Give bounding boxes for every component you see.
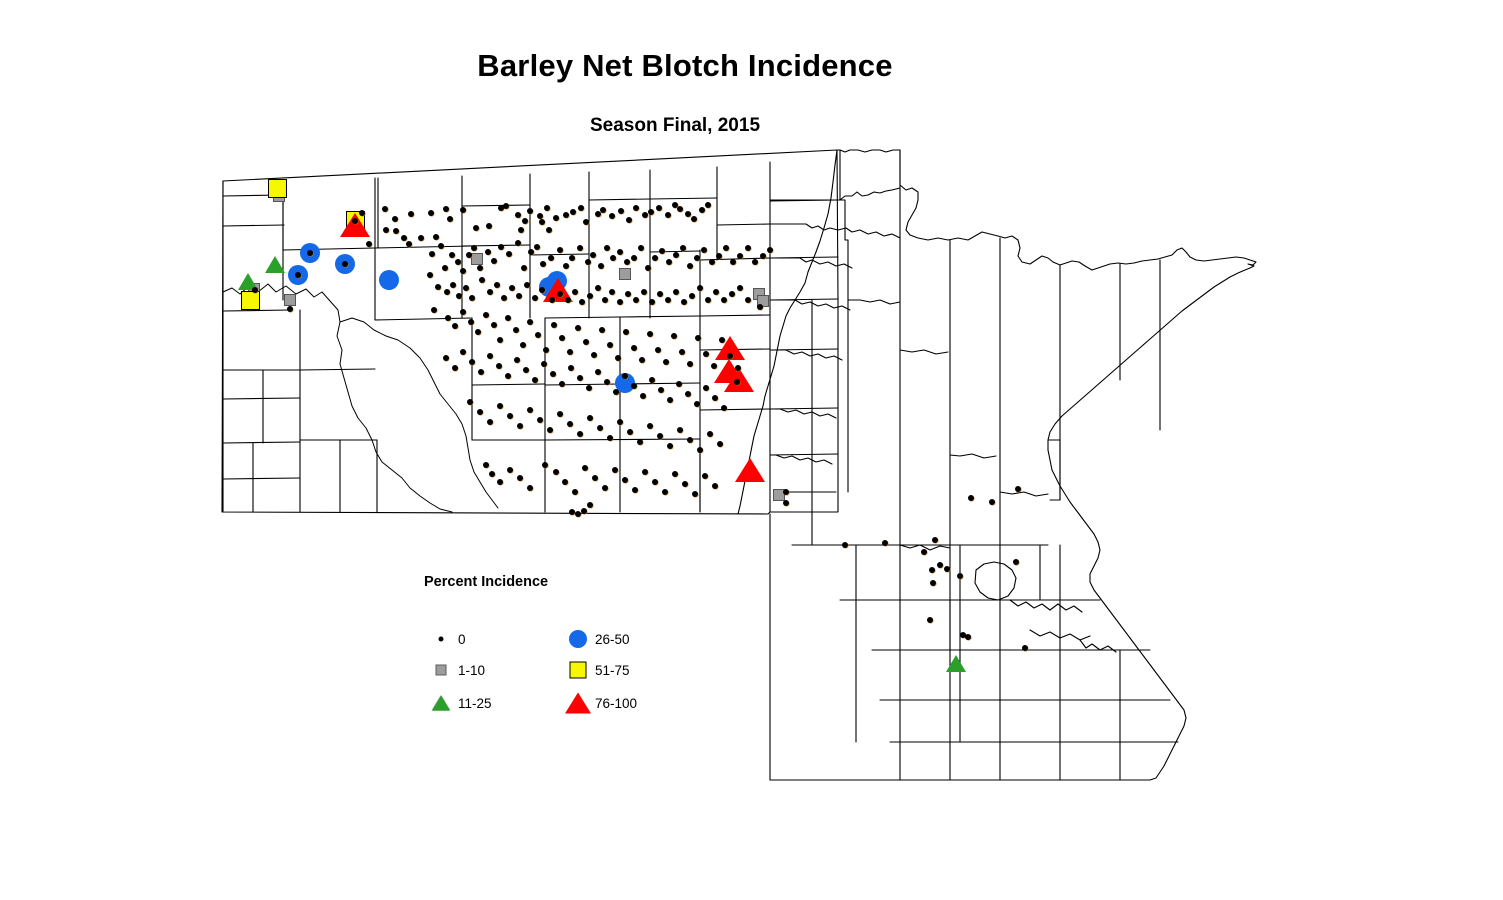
map-marker-zero bbox=[460, 268, 466, 274]
map-marker-1-10 bbox=[619, 268, 631, 280]
map-marker-zero bbox=[447, 216, 453, 222]
map-marker-zero bbox=[456, 293, 462, 299]
blue-circle-icon bbox=[561, 626, 595, 652]
map-marker-zero bbox=[703, 385, 709, 391]
map-marker-zero bbox=[666, 259, 672, 265]
map-marker-zero bbox=[697, 447, 703, 453]
map-marker-zero bbox=[745, 245, 751, 251]
legend-label-76-100: 76-100 bbox=[595, 696, 637, 711]
map-marker-zero bbox=[921, 549, 927, 555]
map-marker-zero bbox=[563, 212, 569, 218]
map-marker-zero bbox=[455, 259, 461, 265]
map-marker-zero bbox=[649, 377, 655, 383]
map-marker-zero bbox=[647, 423, 653, 429]
map-marker-zero bbox=[583, 339, 589, 345]
map-marker-zero bbox=[477, 265, 483, 271]
map-marker-zero bbox=[709, 259, 715, 265]
map-marker-zero bbox=[572, 289, 578, 295]
map-marker-zero bbox=[712, 395, 718, 401]
map-marker-zero bbox=[631, 255, 637, 261]
map-marker-zero bbox=[515, 240, 521, 246]
map-marker-zero bbox=[548, 255, 554, 261]
map-marker-zero bbox=[567, 421, 573, 427]
map-marker-zero bbox=[445, 315, 451, 321]
map-marker-zero bbox=[401, 235, 407, 241]
map-marker-zero bbox=[486, 223, 492, 229]
map-marker-0 bbox=[757, 304, 763, 310]
map-marker-1-10 bbox=[471, 253, 483, 265]
map-marker-zero bbox=[587, 293, 593, 299]
map-marker-zero bbox=[695, 335, 701, 341]
map-marker-zero bbox=[393, 228, 399, 234]
map-marker-zero bbox=[494, 282, 500, 288]
map-marker-zero bbox=[965, 634, 971, 640]
map-marker-zero bbox=[615, 355, 621, 361]
map-marker-zero bbox=[658, 387, 664, 393]
map-marker-zero bbox=[685, 391, 691, 397]
legend-title: Percent Incidence bbox=[424, 574, 664, 590]
gray-square-icon bbox=[424, 657, 458, 683]
legend-item-0: 0 bbox=[424, 626, 466, 652]
map-marker-zero bbox=[944, 566, 950, 572]
map-marker-zero bbox=[520, 342, 526, 348]
map-marker-zero bbox=[471, 245, 477, 251]
map-marker-zero bbox=[602, 485, 608, 491]
map-marker-0 bbox=[287, 306, 293, 312]
map-marker-zero bbox=[427, 272, 433, 278]
map-marker-zero bbox=[609, 213, 615, 219]
map-marker-zero bbox=[599, 327, 605, 333]
map-marker-zero bbox=[383, 227, 389, 233]
map-marker-zero bbox=[408, 211, 414, 217]
map-marker-zero bbox=[577, 431, 583, 437]
map-marker-zero bbox=[677, 427, 683, 433]
legend-label-0: 0 bbox=[458, 632, 466, 647]
map-marker-zero bbox=[957, 573, 963, 579]
map-marker-zero bbox=[406, 241, 412, 247]
map-marker-zero bbox=[705, 202, 711, 208]
map-marker-zero bbox=[927, 617, 933, 623]
map-marker-zero bbox=[557, 291, 563, 297]
map-marker-zero bbox=[642, 469, 648, 475]
map-marker-zero bbox=[659, 248, 665, 254]
map-marker-zero bbox=[579, 299, 585, 305]
map-marker-zero bbox=[691, 216, 697, 222]
map-marker-zero bbox=[679, 349, 685, 355]
map-marker-zero bbox=[442, 265, 448, 271]
map-marker-51-75 bbox=[241, 291, 260, 310]
map-marker-zero bbox=[438, 243, 444, 249]
map-marker-zero bbox=[487, 419, 493, 425]
map-marker-zero bbox=[544, 205, 550, 211]
map-marker-zero bbox=[528, 249, 534, 255]
map-marker-zero bbox=[585, 259, 591, 265]
map-marker-zero bbox=[1015, 486, 1021, 492]
map-marker-zero bbox=[604, 245, 610, 251]
map-marker-zero bbox=[989, 499, 995, 505]
map-marker-zero bbox=[610, 255, 616, 261]
map-marker-zero bbox=[737, 285, 743, 291]
map-marker-zero bbox=[557, 247, 563, 253]
map-marker-zero bbox=[592, 475, 598, 481]
map-marker-zero bbox=[640, 393, 646, 399]
map-marker-zero bbox=[737, 253, 743, 259]
map-marker-zero bbox=[676, 381, 682, 387]
map-marker-zero bbox=[431, 307, 437, 313]
map-marker-zero bbox=[553, 215, 559, 221]
map-marker-zero bbox=[712, 483, 718, 489]
map-marker-zero bbox=[604, 379, 610, 385]
map-marker-zero bbox=[428, 210, 434, 216]
map-marker-zero bbox=[581, 508, 587, 514]
map-marker-0 bbox=[352, 218, 358, 224]
map-marker-zero bbox=[507, 467, 513, 473]
map-marker-zero bbox=[602, 297, 608, 303]
green-triangle-icon bbox=[424, 690, 458, 716]
map-marker-zero bbox=[553, 469, 559, 475]
map-marker-zero bbox=[624, 259, 630, 265]
map-marker-zero bbox=[541, 361, 547, 367]
map-marker-zero bbox=[498, 244, 504, 250]
map-marker-zero bbox=[767, 247, 773, 253]
map-marker-zero bbox=[663, 359, 669, 365]
map-marker-zero bbox=[485, 249, 491, 255]
map-marker-zero bbox=[730, 259, 736, 265]
map-marker-zero bbox=[505, 373, 511, 379]
map-marker-zero bbox=[735, 365, 741, 371]
map-marker-zero bbox=[582, 465, 588, 471]
legend: Percent Incidence 0 1-10 11-25 26-50 51-… bbox=[424, 574, 664, 704]
map-marker-zero bbox=[677, 206, 683, 212]
map-marker-zero bbox=[575, 511, 581, 517]
map-marker-zero bbox=[701, 247, 707, 253]
map-marker-0 bbox=[295, 272, 301, 278]
map-marker-zero bbox=[535, 332, 541, 338]
map-marker-51-75 bbox=[268, 179, 287, 198]
map-marker-zero bbox=[707, 431, 713, 437]
map-marker-zero bbox=[516, 293, 522, 299]
map-marker-zero bbox=[518, 227, 524, 233]
map-marker-zero bbox=[469, 359, 475, 365]
map-marker-zero bbox=[687, 263, 693, 269]
map-marker-zero bbox=[929, 567, 935, 573]
map-marker-zero bbox=[656, 205, 662, 211]
map-marker-zero bbox=[460, 309, 466, 315]
map-marker-zero bbox=[745, 297, 751, 303]
small-black-dot-icon bbox=[424, 626, 458, 652]
map-marker-zero bbox=[760, 253, 766, 259]
map-marker-zero bbox=[524, 282, 530, 288]
map-marker-zero bbox=[633, 205, 639, 211]
map-marker-zero bbox=[716, 253, 722, 259]
map-marker-zero bbox=[783, 489, 789, 495]
map-marker-zero bbox=[680, 245, 686, 251]
map-marker-zero bbox=[721, 405, 727, 411]
map-marker-zero bbox=[539, 219, 545, 225]
map-marker-zero bbox=[569, 255, 575, 261]
map-marker-zero bbox=[595, 285, 601, 291]
map-marker-zero bbox=[882, 540, 888, 546]
map-marker-zero bbox=[649, 299, 655, 305]
map-marker-zero bbox=[702, 473, 708, 479]
map-marker-zero bbox=[600, 207, 606, 213]
legend-item-1-10: 1-10 bbox=[424, 657, 485, 683]
map-marker-zero bbox=[501, 295, 507, 301]
map-marker-zero bbox=[496, 363, 502, 369]
map-marker-zero bbox=[689, 293, 695, 299]
map-marker-zero bbox=[665, 212, 671, 218]
map-marker-zero bbox=[527, 407, 533, 413]
map-figure: Barley Net Blotch Incidence Season Final… bbox=[0, 0, 1503, 900]
map-marker-zero bbox=[473, 225, 479, 231]
legend-label-51-75: 51-75 bbox=[595, 663, 630, 678]
map-marker-zero bbox=[607, 435, 613, 441]
map-marker-0 bbox=[252, 287, 258, 293]
map-marker-zero bbox=[618, 208, 624, 214]
map-marker-zero bbox=[523, 367, 529, 373]
map-marker-zero bbox=[443, 206, 449, 212]
map-marker-zero bbox=[452, 323, 458, 329]
map-marker-zero bbox=[639, 357, 645, 363]
map-marker-zero bbox=[559, 335, 565, 341]
map-marker-zero bbox=[489, 471, 495, 477]
map-marker-zero bbox=[575, 325, 581, 331]
map-marker-zero bbox=[540, 261, 546, 267]
map-marker-11-25 bbox=[265, 256, 285, 273]
map-marker-zero bbox=[623, 329, 629, 335]
map-marker-zero bbox=[497, 479, 503, 485]
map-marker-zero bbox=[483, 312, 489, 318]
map-marker-zero bbox=[549, 297, 555, 303]
map-marker-zero bbox=[1013, 559, 1019, 565]
map-marker-zero bbox=[595, 369, 601, 375]
map-marker-zero bbox=[565, 297, 571, 303]
map-marker-zero bbox=[418, 235, 424, 241]
map-marker-zero bbox=[477, 409, 483, 415]
map-marker-zero bbox=[497, 403, 503, 409]
legend-item-11-25: 11-25 bbox=[424, 690, 492, 716]
map-marker-zero bbox=[673, 252, 679, 258]
map-marker-zero bbox=[537, 417, 543, 423]
map-marker-zero bbox=[655, 347, 661, 353]
map-marker-zero bbox=[681, 299, 687, 305]
legend-label-1-10: 1-10 bbox=[458, 663, 485, 678]
map-marker-zero bbox=[937, 562, 943, 568]
map-marker-zero bbox=[550, 371, 556, 377]
map-marker-zero bbox=[505, 315, 511, 321]
map-marker-zero bbox=[687, 437, 693, 443]
map-marker-zero bbox=[1022, 645, 1028, 651]
map-marker-zero bbox=[617, 299, 623, 305]
map-marker-zero bbox=[527, 485, 533, 491]
map-marker-zero bbox=[435, 284, 441, 290]
map-marker-zero bbox=[662, 489, 668, 495]
map-marker-zero bbox=[665, 297, 671, 303]
map-marker-zero bbox=[667, 397, 673, 403]
map-marker-zero bbox=[692, 491, 698, 497]
map-marker-zero bbox=[491, 258, 497, 264]
legend-label-11-25: 11-25 bbox=[458, 696, 492, 711]
map-marker-zero bbox=[752, 259, 758, 265]
map-marker-zero bbox=[491, 322, 497, 328]
map-marker-zero bbox=[930, 580, 936, 586]
map-marker-zero bbox=[638, 245, 644, 251]
map-marker-zero bbox=[366, 241, 372, 247]
map-marker-zero bbox=[450, 282, 456, 288]
map-marker-zero bbox=[359, 210, 365, 216]
map-marker-zero bbox=[429, 251, 435, 257]
map-marker-zero bbox=[586, 385, 592, 391]
map-marker-zero bbox=[723, 245, 729, 251]
map-marker-zero bbox=[729, 291, 735, 297]
map-marker-zero bbox=[587, 415, 593, 421]
map-marker-zero bbox=[444, 289, 450, 295]
map-marker-zero bbox=[607, 342, 613, 348]
map-marker-zero bbox=[609, 289, 615, 295]
map-marker-zero bbox=[633, 297, 639, 303]
map-marker-zero bbox=[591, 352, 597, 358]
map-marker-zero bbox=[577, 375, 583, 381]
map-marker-zero bbox=[466, 252, 472, 258]
map-marker-zero bbox=[657, 291, 663, 297]
map-marker-zero bbox=[705, 297, 711, 303]
map-marker-26-50 bbox=[379, 270, 399, 290]
map-marker-zero bbox=[652, 255, 658, 261]
map-marker-zero bbox=[783, 500, 789, 506]
map-marker-zero bbox=[509, 285, 515, 291]
map-marker-zero bbox=[703, 351, 709, 357]
map-marker-zero bbox=[527, 208, 533, 214]
map-marker-zero bbox=[721, 297, 727, 303]
map-marker-zero bbox=[578, 205, 584, 211]
map-marker-zero bbox=[467, 399, 473, 405]
map-marker-zero bbox=[648, 209, 654, 215]
map-marker-zero bbox=[598, 263, 604, 269]
map-marker-zero bbox=[543, 347, 549, 353]
legend-label-26-50: 26-50 bbox=[595, 632, 630, 647]
map-marker-1-10 bbox=[284, 294, 296, 306]
map-marker-zero bbox=[487, 289, 493, 295]
map-marker-zero bbox=[382, 206, 388, 212]
map-marker-zero bbox=[632, 487, 638, 493]
map-marker-zero bbox=[657, 433, 663, 439]
map-marker-zero bbox=[522, 218, 528, 224]
map-marker-zero bbox=[587, 502, 593, 508]
map-marker-zero bbox=[697, 285, 703, 291]
map-marker-zero bbox=[685, 211, 691, 217]
map-marker-zero bbox=[570, 209, 576, 215]
map-marker-zero bbox=[517, 423, 523, 429]
map-marker-zero bbox=[449, 252, 455, 258]
map-marker-zero bbox=[506, 251, 512, 257]
map-marker-zero bbox=[719, 337, 725, 343]
map-marker-zero bbox=[622, 477, 628, 483]
map-marker-zero bbox=[532, 377, 538, 383]
map-marker-zero bbox=[542, 462, 548, 468]
map-marker-zero bbox=[513, 327, 519, 333]
map-marker-zero bbox=[487, 353, 493, 359]
map-marker-zero bbox=[613, 389, 619, 395]
map-marker-zero bbox=[641, 289, 647, 295]
map-marker-zero bbox=[562, 479, 568, 485]
map-marker-zero bbox=[642, 212, 648, 218]
state-county-outlines bbox=[0, 0, 1503, 900]
map-marker-76-100 bbox=[735, 458, 765, 482]
map-marker-zero bbox=[559, 381, 565, 387]
map-marker-zero bbox=[532, 295, 538, 301]
map-marker-zero bbox=[583, 219, 589, 225]
map-marker-zero bbox=[699, 207, 705, 213]
map-marker-zero bbox=[521, 265, 527, 271]
map-marker-zero bbox=[694, 401, 700, 407]
map-marker-zero bbox=[452, 365, 458, 371]
map-marker-zero bbox=[673, 289, 679, 295]
map-marker-zero bbox=[503, 203, 509, 209]
map-marker-zero bbox=[617, 249, 623, 255]
map-marker-zero bbox=[468, 319, 474, 325]
map-marker-zero bbox=[617, 419, 623, 425]
map-marker-zero bbox=[672, 471, 678, 477]
map-marker-zero bbox=[667, 443, 673, 449]
map-marker-zero bbox=[433, 234, 439, 240]
map-marker-zero bbox=[622, 373, 628, 379]
map-marker-zero bbox=[627, 429, 633, 435]
map-marker-zero bbox=[557, 411, 563, 417]
map-marker-zero bbox=[475, 329, 481, 335]
map-marker-zero bbox=[507, 413, 513, 419]
map-marker-zero bbox=[568, 365, 574, 371]
red-triangle-icon bbox=[561, 690, 595, 716]
map-marker-zero bbox=[534, 244, 540, 250]
map-marker-zero bbox=[517, 475, 523, 481]
legend-item-76-100: 76-100 bbox=[561, 690, 637, 716]
map-marker-zero bbox=[546, 227, 552, 233]
map-marker-zero bbox=[647, 331, 653, 337]
map-marker-zero bbox=[682, 481, 688, 487]
map-marker-zero bbox=[469, 295, 475, 301]
map-marker-zero bbox=[547, 427, 553, 433]
map-marker-zero bbox=[572, 489, 578, 495]
map-marker-zero bbox=[727, 353, 733, 359]
map-canvas bbox=[0, 0, 1503, 900]
map-marker-zero bbox=[645, 265, 651, 271]
map-marker-zero bbox=[717, 441, 723, 447]
map-marker-zero bbox=[612, 467, 618, 473]
map-marker-zero bbox=[551, 322, 557, 328]
map-marker-zero bbox=[597, 425, 603, 431]
map-marker-zero bbox=[478, 369, 484, 375]
map-marker-zero bbox=[932, 537, 938, 543]
map-marker-zero bbox=[527, 319, 533, 325]
map-marker-0 bbox=[734, 379, 740, 385]
map-marker-zero bbox=[631, 345, 637, 351]
map-marker-zero bbox=[687, 361, 693, 367]
map-marker-zero bbox=[652, 479, 658, 485]
map-marker-zero bbox=[694, 255, 700, 261]
map-marker-zero bbox=[514, 357, 520, 363]
map-marker-zero bbox=[577, 245, 583, 251]
map-marker-zero bbox=[590, 252, 596, 258]
map-marker-zero bbox=[460, 207, 466, 213]
map-marker-zero bbox=[625, 291, 631, 297]
map-marker-11-25 bbox=[946, 655, 966, 672]
map-marker-zero bbox=[637, 439, 643, 445]
map-marker-zero bbox=[711, 363, 717, 369]
map-marker-zero bbox=[626, 217, 632, 223]
map-marker-zero bbox=[497, 337, 503, 343]
legend-item-26-50: 26-50 bbox=[561, 626, 630, 652]
map-marker-zero bbox=[563, 263, 569, 269]
